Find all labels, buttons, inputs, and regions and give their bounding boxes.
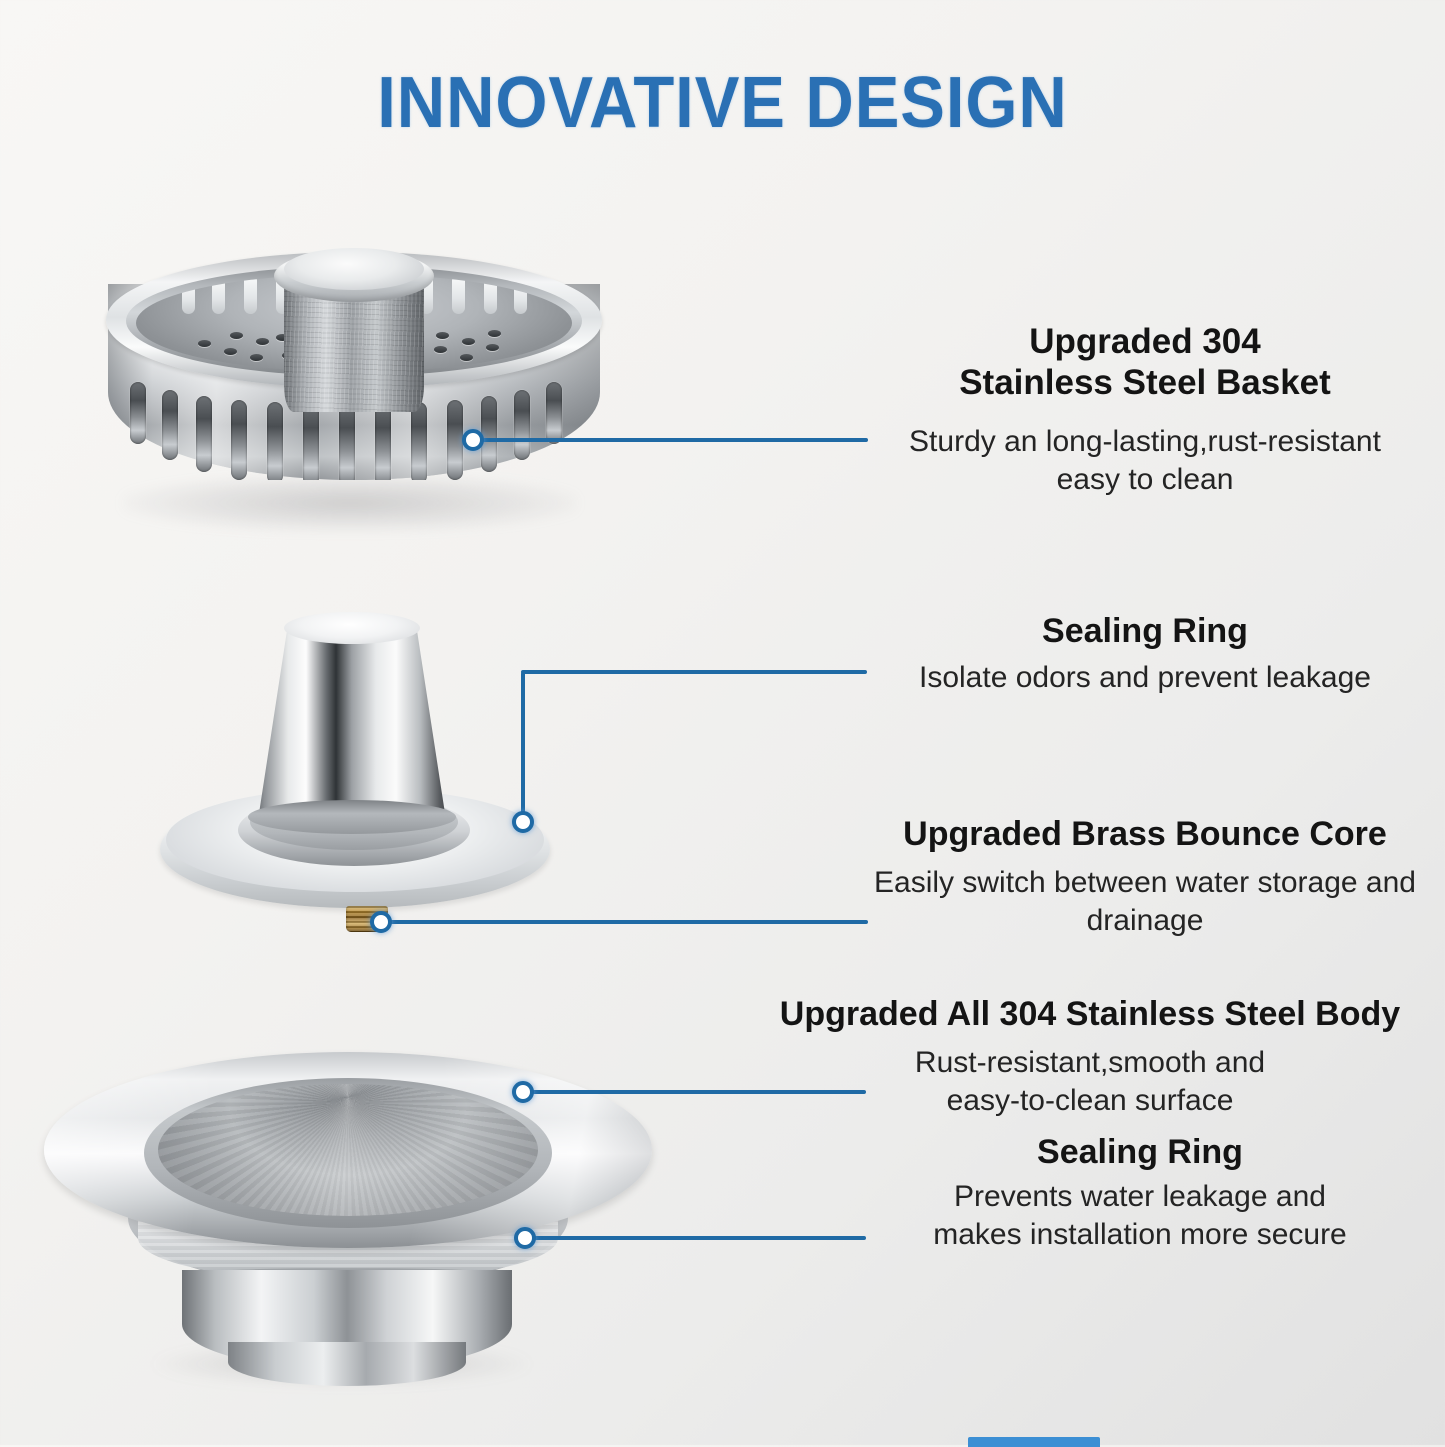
core-cone-base — [248, 800, 456, 834]
callout-stainless-body: Upgraded All 304 Stainless Steel Body Ru… — [745, 995, 1435, 1119]
callout-sealing-ring-top-body: Isolate odors and prevent leakage — [880, 659, 1410, 697]
page-title: INNOVATIVE DESIGN — [51, 62, 1395, 144]
callout-basket-heading-line1: Upgraded 304 — [880, 322, 1410, 363]
callout-sealing-ring-bottom-line2: makes installation more secure — [860, 1216, 1420, 1254]
body-bowl-interior — [158, 1084, 538, 1216]
infographic-canvas: INNOVATIVE DESIGN — [0, 0, 1445, 1445]
product-image-strainer-basket — [96, 222, 612, 542]
brass-threaded-stud — [346, 906, 388, 932]
callout-sealing-ring-bottom-line1: Prevents water leakage and — [860, 1178, 1420, 1216]
callout-sealing-ring-bottom-heading: Sealing Ring — [860, 1133, 1420, 1172]
core-cone-body — [252, 624, 452, 820]
callout-sealing-ring-bottom: Sealing Ring Prevents water leakage and … — [860, 1133, 1420, 1253]
callout-sealing-ring-top-heading: Sealing Ring — [880, 612, 1410, 651]
callout-basket-heading-line2: Stainless Steel Basket — [880, 363, 1410, 404]
product-image-drain-body — [32, 1042, 662, 1387]
bottom-accent-bar — [968, 1437, 1100, 1447]
callout-sealing-ring-top: Sealing Ring Isolate odors and prevent l… — [880, 612, 1410, 697]
callout-basket-body-line2: easy to clean — [880, 461, 1410, 499]
callout-basket: Upgraded 304 Stainless Steel Basket Stur… — [880, 322, 1410, 498]
callout-brass-bounce-core: Upgraded Brass Bounce Core Easily switch… — [860, 815, 1430, 939]
basket-shadow — [122, 474, 578, 532]
callout-stainless-body-line2: easy-to-clean surface — [745, 1082, 1435, 1120]
basket-cap-top — [284, 248, 424, 290]
product-image-bounce-core — [152, 602, 552, 942]
core-cone-top — [284, 612, 420, 644]
leader-segment — [521, 670, 867, 674]
callout-stainless-body-line1: Rust-resistant,smooth and — [745, 1044, 1435, 1082]
callout-stainless-body-heading: Upgraded All 304 Stainless Steel Body — [745, 995, 1435, 1034]
callout-basket-body-line1: Sturdy an long-lasting,rust-resistant — [880, 423, 1410, 461]
callout-brass-body-line2: drainage — [860, 902, 1430, 940]
callout-brass-body-line1: Easily switch between water storage and — [860, 864, 1430, 902]
callout-brass-heading: Upgraded Brass Bounce Core — [860, 815, 1430, 854]
